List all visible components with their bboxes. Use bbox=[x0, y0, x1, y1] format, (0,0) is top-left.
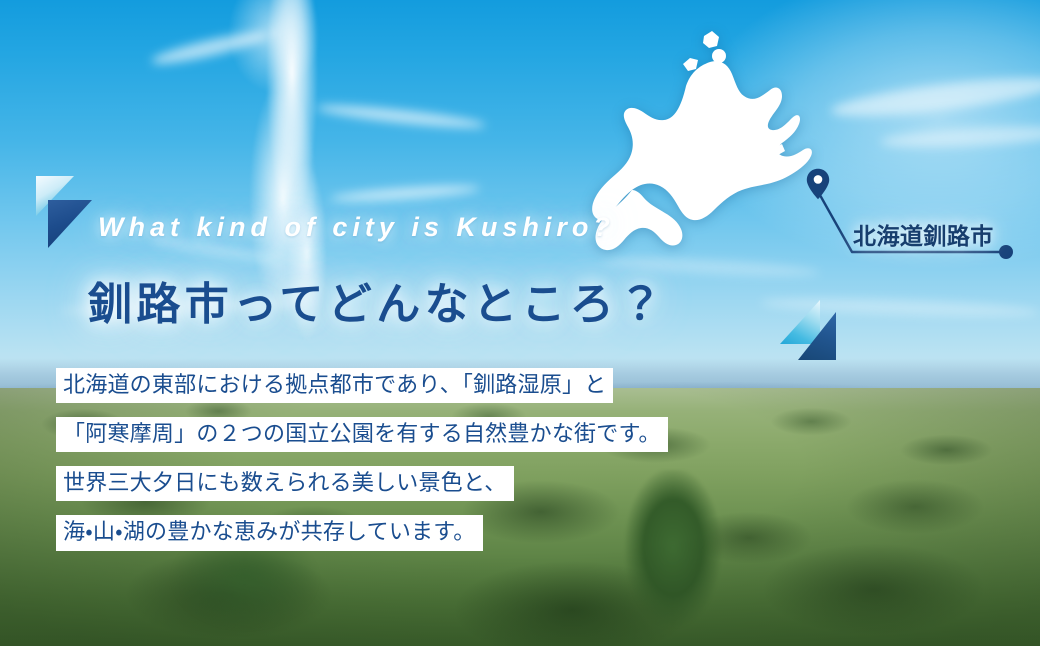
decor-triangle-mark-right bbox=[780, 298, 836, 360]
page-title: 釧路市ってどんなところ？ bbox=[88, 268, 667, 332]
map-pin-icon bbox=[806, 168, 830, 200]
eyebrow-heading: What kind of city is Kushiro? bbox=[98, 212, 615, 243]
decor-triangle-dark bbox=[48, 200, 92, 248]
body-copy-line: 北海道の東部における拠点都市であり、「釧路湿原」と bbox=[56, 368, 613, 403]
body-copy-line: 「阿寒摩周」の２つの国立公園を有する自然豊かな街です。 bbox=[56, 417, 668, 452]
body-copy-line: 海・山・湖の豊かな恵みが共存しています。 bbox=[56, 515, 483, 550]
body-copy: 北海道の東部における拠点都市であり、「釧路湿原」と 「阿寒摩周」の２つの国立公園… bbox=[56, 368, 756, 551]
decor-triangle-light bbox=[780, 300, 820, 344]
kushiro-hero-banner: 北海道釧路市 What kind of city is Kushiro? 釧路市… bbox=[0, 0, 1040, 646]
body-copy-line: 世界三大夕日にも数えられる美しい景色と、 bbox=[56, 466, 514, 501]
decor-triangle-mark-left bbox=[36, 176, 92, 248]
map-label-kushiro: 北海道釧路市 bbox=[853, 217, 994, 251]
